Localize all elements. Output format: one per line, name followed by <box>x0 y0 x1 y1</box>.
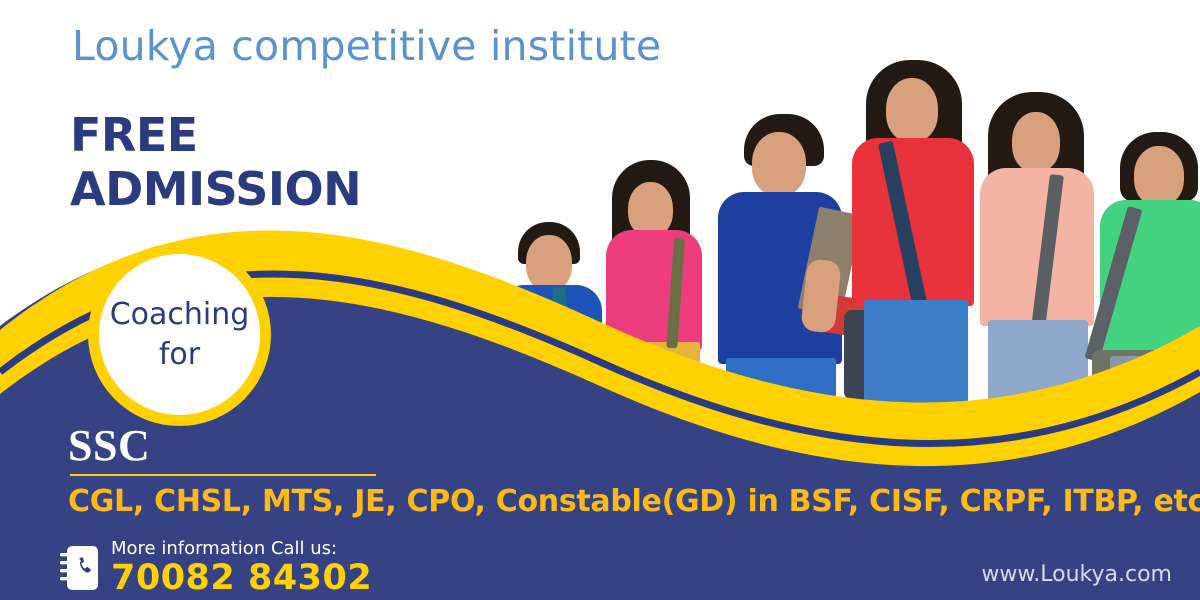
coaching-badge: Coaching for <box>88 243 271 426</box>
student-3 <box>708 100 858 460</box>
contact-block[interactable]: More information Call us: 70082 84302 <box>58 540 372 596</box>
course-title: SSC <box>68 420 150 471</box>
page-title: Loukya competitive institute <box>72 22 661 70</box>
call-label: More information Call us: <box>111 540 372 558</box>
student-7 <box>1196 100 1200 460</box>
phone-book-icon <box>58 544 100 592</box>
headline: FREE ADMISSION <box>70 108 361 216</box>
headline-line-2: ADMISSION <box>70 162 361 216</box>
headline-line-1: FREE <box>70 108 361 162</box>
promotional-banner: Loukya competitive institute FREE ADMISS… <box>0 0 1200 600</box>
student-2 <box>590 110 715 460</box>
badge-line-1: Coaching <box>110 295 250 335</box>
exam-list: CGL, CHSL, MTS, JE, CPO, Constable(GD) i… <box>68 484 1200 519</box>
phone-number[interactable]: 70082 84302 <box>111 561 372 596</box>
contact-text: More information Call us: 70082 84302 <box>111 540 372 596</box>
badge-line-2: for <box>159 335 200 375</box>
student-4 <box>838 60 988 460</box>
student-6 <box>1086 80 1200 460</box>
title-divider <box>70 474 376 476</box>
students-group-image <box>470 60 1200 460</box>
students-photo <box>470 60 1200 460</box>
website-url[interactable]: www.Loukya.com <box>981 562 1172 587</box>
